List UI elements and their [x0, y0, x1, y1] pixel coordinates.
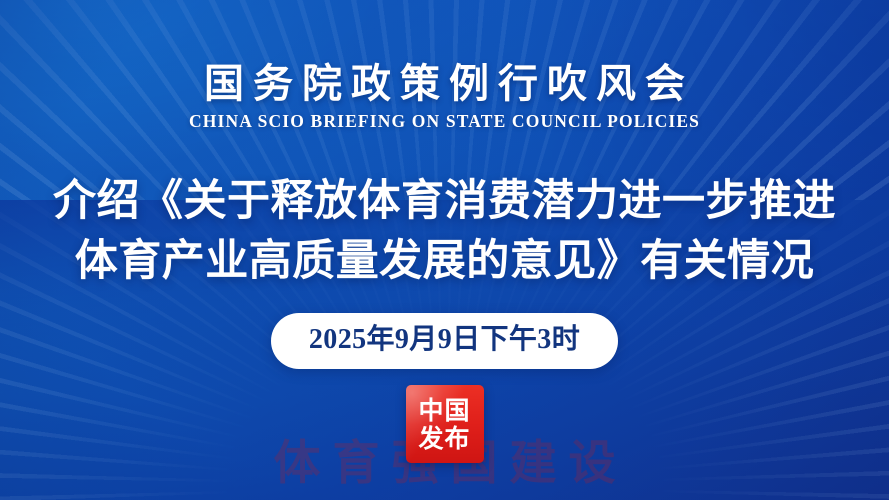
- date-badge: 2025年9月9日下午3时: [271, 313, 618, 369]
- headline-line-1: 介绍《关于释放体育消费潜力进一步推进: [0, 171, 889, 231]
- masthead-title-en: CHINA SCIO BRIEFING ON STATE COUNCIL POL…: [0, 111, 889, 132]
- logo-wrapper: 中国 发布: [0, 385, 889, 463]
- masthead: 国务院政策例行吹风会 CHINA SCIO BRIEFING ON STATE …: [0, 62, 889, 132]
- logo-line-1: 中国: [418, 397, 470, 424]
- date-badge-wrapper: 2025年9月9日下午3时: [0, 313, 889, 369]
- poster-content: 国务院政策例行吹风会 CHINA SCIO BRIEFING ON STATE …: [0, 0, 889, 500]
- headline-line-2: 体育产业高质量发展的意见》有关情况: [0, 231, 889, 291]
- masthead-title-cn: 国务院政策例行吹风会: [0, 62, 889, 105]
- headline: 介绍《关于释放体育消费潜力进一步推进 体育产业高质量发展的意见》有关情况: [0, 171, 889, 291]
- briefing-poster: 体育强国建设 国务院政策例行吹风会 CHINA SCIO BRIEFING ON…: [0, 0, 889, 500]
- logo-line-2: 发布: [418, 425, 470, 452]
- logo-text: 中国 发布: [406, 385, 484, 463]
- china-release-logo: 中国 发布: [406, 385, 484, 463]
